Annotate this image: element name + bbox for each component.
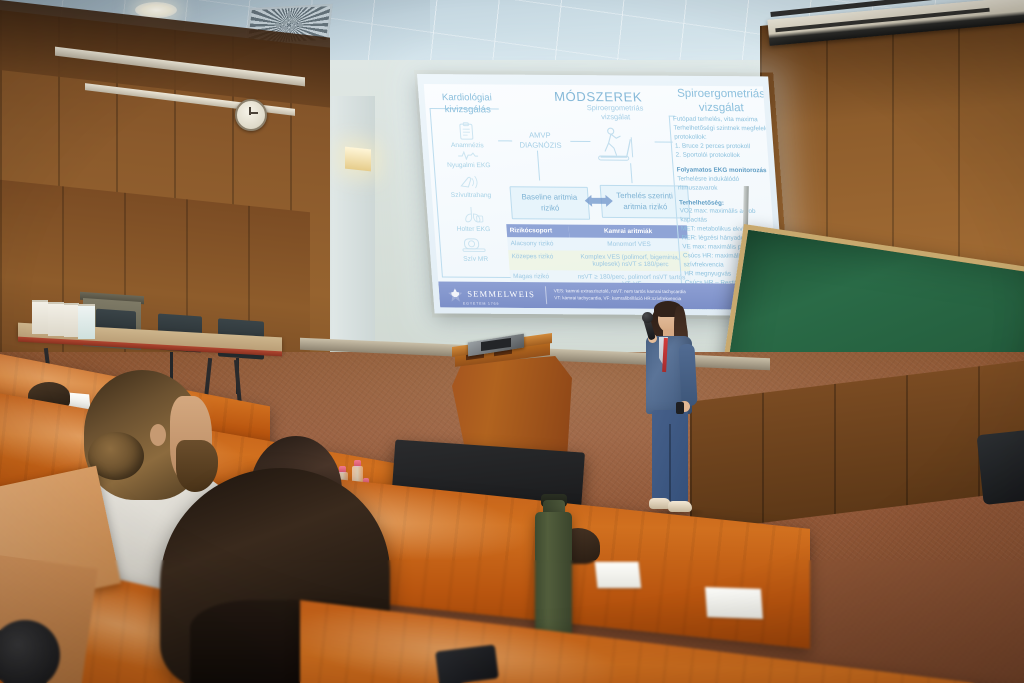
presenter	[630, 298, 706, 520]
mri-scanner-icon	[443, 236, 507, 256]
flow-arrow-down-2	[630, 163, 632, 183]
lungs-heart-icon	[441, 204, 505, 226]
flow-box-baseline: Baseline aritmia rizikó	[509, 186, 590, 219]
logo-wordmark: SEMMELWEIS EGYETEM 1769	[461, 284, 535, 306]
projection-screen: MÓDSZEREK Kardiológiai kivizsgálás Anamn…	[417, 74, 786, 316]
right-column-heading: Spiroergometriás vizsgálat	[677, 88, 765, 116]
gift-bag[interactable]	[64, 303, 79, 337]
table-cell-risk: Közepes rizikó	[508, 250, 572, 270]
rcol-block1-item: 1. Bruce 2 perces protokoll	[675, 142, 774, 152]
left-item-nyugalmi-ekg: Nyugalmi EKG	[437, 150, 501, 169]
left-item-label: Szívultrahang	[440, 192, 503, 199]
rcol-block1-sub: Terhelhetőségi szintnek megfelelő protok…	[673, 125, 773, 144]
chair-back-right[interactable]	[977, 429, 1024, 505]
rcol-block3-title: Terhelhetőség:	[679, 199, 724, 206]
rcol-block2-title: Folyamatos EKG monitorozás	[676, 166, 766, 174]
presentation-slide: MÓDSZEREK Kardiológiai kivizsgálás Anamn…	[424, 84, 779, 310]
wall-clock-icon	[235, 99, 267, 131]
ecg-icon	[437, 150, 500, 162]
smartphone-secondary[interactable]	[435, 644, 499, 683]
logo-subtext: EGYETEM 1769	[463, 302, 536, 306]
semmelweis-logo-icon	[448, 288, 463, 302]
rcol-block3-item: VO2 max: maximális aerob kapacitás	[680, 208, 780, 227]
gift-bag[interactable]	[48, 302, 64, 336]
table-header-cell: Rizikócsoport	[506, 224, 569, 237]
flow-arrow-right-1	[498, 140, 512, 141]
left-column-heading: Kardiológiai kivizsgálás	[430, 92, 504, 116]
left-item-holter-ekg: Holter EKG	[441, 204, 505, 233]
gift-bag[interactable]	[32, 300, 48, 334]
table-row: Közepes rizikó Komplex VES (polimorf, bi…	[508, 250, 690, 271]
table-header-row: Rizikócsoport Kamrai aritmiák	[506, 224, 688, 238]
microphone-head-icon	[642, 312, 653, 323]
left-item-anamnezis: Anamnézis	[435, 122, 499, 149]
presenter-arm-right	[678, 344, 697, 407]
table-cell-risk: Alacsony rizikó	[507, 237, 570, 250]
wall-sconce-light-icon	[345, 147, 371, 172]
flow-arrow-right-2	[570, 141, 590, 142]
paper-sheet[interactable]	[705, 587, 763, 619]
table-cell-arrhythmia: Monomorf VES	[569, 238, 688, 252]
paper-sheet[interactable]	[595, 562, 641, 588]
left-item-label: Nyugalmi EKG	[437, 162, 500, 169]
left-item-label: Szív MR	[444, 256, 507, 263]
presenter-shoe-right	[668, 501, 692, 512]
flow-diagnosis-label: AMVP DIAGNÓZIS	[511, 130, 569, 150]
footer-divider	[544, 286, 546, 304]
ultrasound-icon	[438, 174, 502, 192]
left-item-szivultrahang: Szívultrahang	[438, 174, 502, 199]
flow-exam-label: Spiroergometriás vizsgálat	[578, 103, 654, 122]
left-item-label: Holter EKG	[442, 226, 505, 233]
trouser-seam	[669, 424, 671, 502]
logo-text: SEMMELWEIS	[467, 289, 536, 299]
slide-footer: SEMMELWEIS EGYETEM 1769 VES: kamrai extr…	[438, 281, 779, 309]
rcol-block2-sub: Terhelésre indukálódó ritmuszavarok	[677, 175, 777, 194]
table-header-cell: Kamrai aritmiák	[568, 225, 687, 239]
table-row: Alacsony rizikó Monomorf VES	[507, 237, 689, 251]
clipboard-icon	[435, 122, 499, 142]
table-cell-arrhythmia: Komplex VES (polimorf, bigeminia, kuples…	[570, 251, 690, 272]
double-arrow-icon	[584, 193, 613, 209]
lecture-hall-photo: MÓDSZEREK Kardiológiai kivizsgálás Anamn…	[0, 0, 1024, 683]
presentation-clicker-icon[interactable]	[676, 402, 684, 414]
flow-arrow-down-1	[537, 151, 540, 181]
audience-man-ear	[150, 424, 166, 446]
rcol-block1-item: 2. Sportolói protokollok	[675, 151, 774, 161]
gift-bag[interactable]	[78, 304, 95, 339]
flow-arrow-left-1	[655, 141, 673, 142]
left-item-label: Anamnézis	[436, 142, 499, 149]
left-item-sziv-mr: Szív MR	[443, 236, 507, 263]
wooden-lectern	[452, 356, 572, 456]
treadmill-icon	[590, 125, 647, 163]
